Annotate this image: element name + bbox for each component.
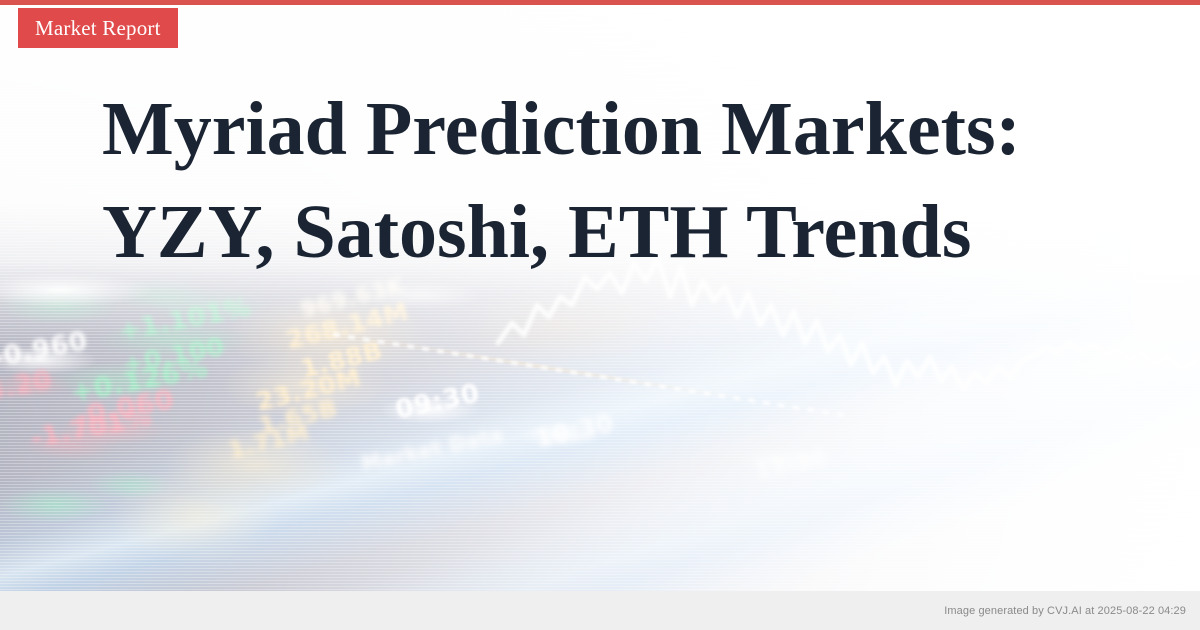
market-report-card: +1.101%+0.100+0.126%-0.060-1.701%969.63K… [0, 0, 1200, 630]
footer-bar: Image generated by CVJ.AI at 2025-08-22 … [0, 591, 1200, 630]
page-title: Myriad Prediction Markets: YZY, Satoshi,… [102, 78, 1112, 285]
category-badge: Market Report [18, 8, 178, 48]
category-badge-label: Market Report [35, 16, 161, 41]
page-title-line-2: YZY, Satoshi, ETH Trends [102, 181, 1112, 284]
top-accent-bar [0, 0, 1200, 5]
attribution-text: Image generated by CVJ.AI at 2025-08-22 … [944, 605, 1186, 617]
page-title-line-1: Myriad Prediction Markets: [102, 78, 1112, 181]
